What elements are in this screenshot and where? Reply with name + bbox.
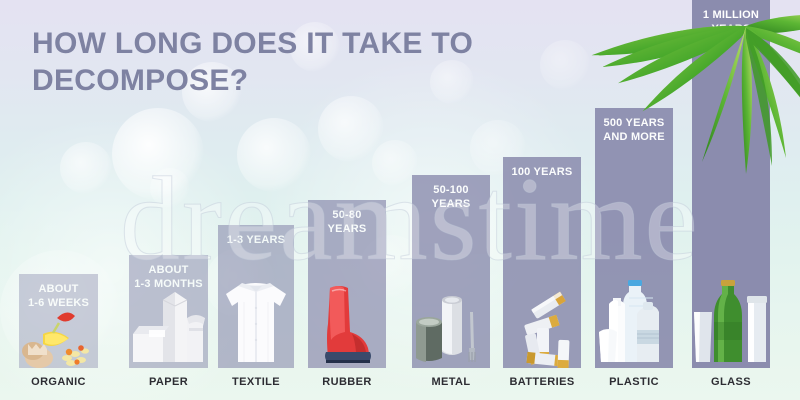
bar-metal[interactable]: 50-100 YEARS	[412, 175, 490, 368]
bar-value-rubber: 50-80 YEARS	[308, 209, 386, 237]
bar-paper[interactable]: ABOUT 1-3 MONTHS	[129, 255, 208, 368]
bar-value-paper: ABOUT 1-3 MONTHS	[129, 264, 208, 292]
bar-value-plastic: 500 YEARS AND MORE	[595, 117, 673, 145]
bar-textile[interactable]: 1-3 YEARS	[218, 225, 294, 368]
category-label-textile: TEXTILE	[218, 376, 294, 388]
category-label-metal: METAL	[412, 376, 490, 388]
bar-value-metal: 50-100 YEARS	[412, 184, 490, 212]
bar-glass[interactable]: 1 MILLION YEARS	[692, 0, 770, 368]
category-label-batteries: BATTERIES	[503, 376, 581, 388]
category-label-plastic: PLASTIC	[595, 376, 673, 388]
bar-value-batteries: 100 YEARS	[503, 166, 581, 180]
category-label-rubber: RUBBER	[308, 376, 386, 388]
chart-column-glass: 1 MILLION YEARS GLASS	[692, 0, 770, 400]
page-title: HOW LONG DOES IT TAKE TO DECOMPOSE?	[32, 26, 652, 99]
category-label-paper: PAPER	[129, 376, 208, 388]
bar-value-organic: ABOUT 1-6 WEEKS	[19, 283, 98, 311]
bar-value-textile: 1-3 YEARS	[218, 234, 294, 248]
infographic-canvas: HOW LONG DOES IT TAKE TO DECOMPOSE?	[0, 0, 800, 400]
bar-organic[interactable]: ABOUT 1-6 WEEKS	[19, 274, 98, 368]
category-label-glass: GLASS	[692, 376, 770, 388]
bar-value-glass: 1 MILLION YEARS	[692, 9, 770, 37]
bar-rubber[interactable]: 50-80 YEARS	[308, 200, 386, 368]
category-label-organic: ORGANIC	[19, 376, 98, 388]
bar-plastic[interactable]: 500 YEARS AND MORE	[595, 108, 673, 368]
bar-batteries[interactable]: 100 YEARS	[503, 157, 581, 368]
